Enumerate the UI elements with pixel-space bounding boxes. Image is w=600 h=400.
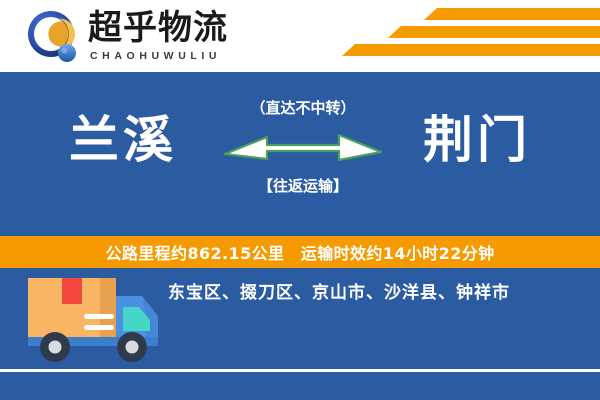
stripe-1 [424, 8, 600, 20]
banner-header: 超乎物流 CHAOHUWULIU [0, 0, 600, 72]
coverage-districts-text: 东宝区、掇刀区、京山市、沙洋县、钟祥市 [168, 278, 588, 303]
stripe-2 [388, 26, 600, 38]
stripe-3 [342, 44, 600, 56]
double-arrow-icon [223, 126, 383, 166]
route-middle: （直达不中转） 【往返运输】 [228, 98, 378, 218]
road-line [0, 369, 600, 372]
route-section: 兰溪 （直达不中转） 【往返运输】 荆门 [0, 72, 600, 236]
roundtrip-label: 【往返运输】 [228, 176, 378, 196]
distance-duration-text: 公路里程约862.15公里 运输时效约14小时22分钟 [105, 240, 494, 264]
coverage-section: 东宝区、掇刀区、京山市、沙洋县、钟祥市 [0, 268, 600, 400]
destination-city: 荆门 [362, 108, 592, 172]
circle-swoosh-logo-icon [26, 10, 82, 66]
brand-logo: 超乎物流 CHAOHUWULIU [26, 8, 266, 66]
delivery-truck-icon [22, 274, 180, 374]
origin-city: 兰溪 [8, 108, 238, 172]
logistics-route-banner: 超乎物流 CHAOHUWULIU 兰溪 （直达不中转） 【往返运输】 荆门 公路… [0, 0, 600, 400]
header-stripes-decoration [340, 6, 600, 64]
brand-name-cn: 超乎物流 [88, 8, 228, 48]
direct-service-label: （直达不中转） [228, 98, 378, 118]
brand-name-en: CHAOHUWULIU [90, 50, 221, 62]
distance-duration-bar: 公路里程约862.15公里 运输时效约14小时22分钟 [0, 236, 600, 268]
